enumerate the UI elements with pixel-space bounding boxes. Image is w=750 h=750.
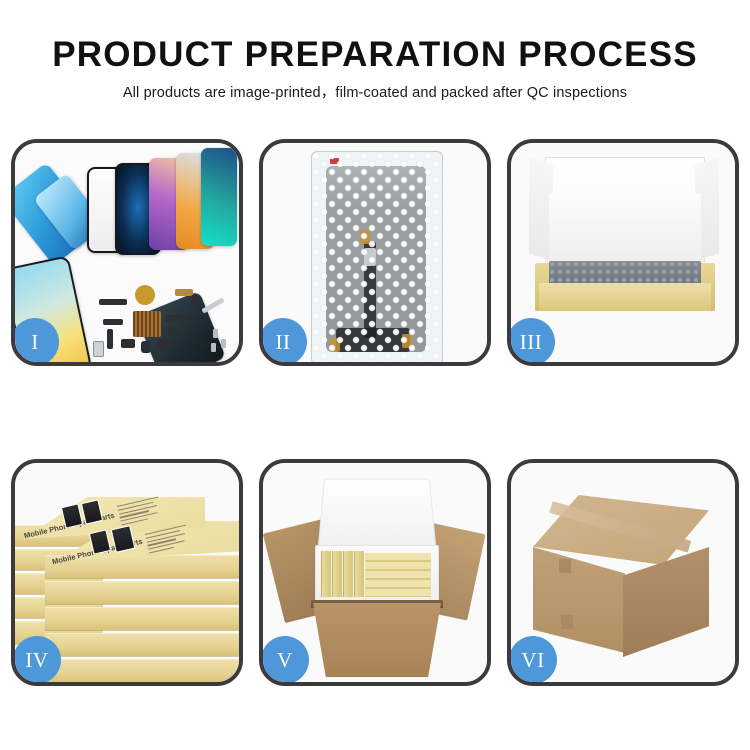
process-step-panel-5[interactable]: V	[259, 459, 491, 686]
process-step-panel-4[interactable]: Mobile Phone Spare Parts Mobile Phone Sp…	[11, 459, 243, 686]
carton-front-face-icon	[533, 547, 625, 653]
step-badge-1: I	[11, 318, 59, 366]
process-steps-grid: I II	[11, 139, 739, 686]
step-badge-5: V	[261, 636, 309, 684]
process-step-panel-6[interactable]: VI	[507, 459, 739, 686]
foam-lid-icon	[318, 479, 437, 550]
step-badge-6: VI	[509, 636, 557, 684]
white-foam-sheet-icon	[549, 193, 701, 267]
carton-side-face-icon	[623, 547, 709, 657]
gold-boxes-inside-icon	[321, 551, 431, 597]
product-preparation-page: PRODUCT PREPARATION PROCESS All products…	[0, 0, 750, 750]
process-step-panel-3[interactable]: III	[507, 139, 739, 366]
process-step-panel-1[interactable]: I	[11, 139, 243, 366]
carton-body-icon	[313, 603, 441, 677]
step-badge-2: II	[259, 318, 307, 366]
page-title: PRODUCT PREPARATION PROCESS	[0, 34, 750, 76]
step-badge-4: IV	[13, 636, 61, 684]
page-subtitle: All products are image-printed，film-coat…	[0, 84, 750, 102]
step-badge-3: III	[507, 318, 555, 366]
bubble-wrap-pouch-icon	[311, 151, 443, 362]
process-step-panel-2[interactable]: II	[259, 139, 491, 366]
page-header: PRODUCT PREPARATION PROCESS All products…	[0, 34, 750, 102]
